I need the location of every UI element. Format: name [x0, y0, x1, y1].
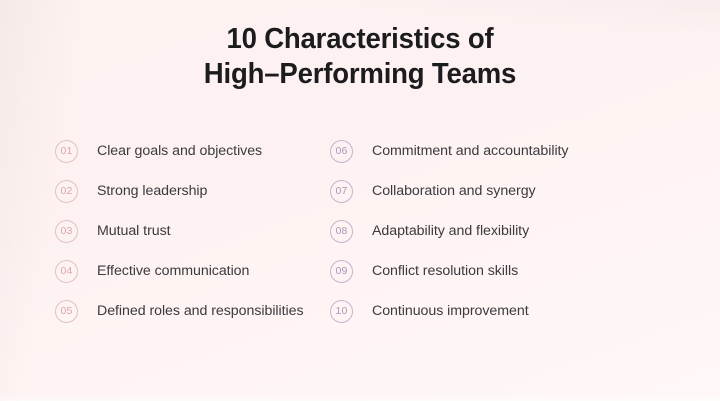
badge-number: 06	[336, 146, 348, 157]
list-item-label: Mutual trust	[97, 222, 171, 240]
number-badge-icon: 07	[330, 180, 353, 203]
badge-number: 09	[336, 266, 348, 277]
list-item: 04 Effective communication	[55, 258, 325, 284]
characteristics-column-left: 01 Clear goals and objectives 02 Strong …	[0, 138, 325, 338]
list-item-label: Clear goals and objectives	[97, 142, 262, 160]
badge-number: 01	[61, 146, 73, 157]
number-badge-icon: 05	[55, 300, 78, 323]
number-badge-icon: 03	[55, 220, 78, 243]
characteristics-column-right: 06 Commitment and accountability 07 Coll…	[325, 138, 665, 338]
list-item: 08 Adaptability and flexibility	[330, 218, 665, 244]
list-item-label: Commitment and accountability	[372, 142, 568, 160]
badge-number: 02	[61, 186, 73, 197]
badge-number: 03	[61, 226, 73, 237]
list-item-label: Strong leadership	[97, 182, 207, 200]
list-item: 07 Collaboration and synergy	[330, 178, 665, 204]
badge-number: 10	[336, 306, 348, 317]
infographic-poster: 10 Characteristics of High–Performing Te…	[0, 0, 720, 401]
number-badge-icon: 09	[330, 260, 353, 283]
page-title: 10 Characteristics of High–Performing Te…	[0, 22, 720, 92]
list-item-label: Conflict resolution skills	[372, 262, 518, 280]
number-badge-icon: 10	[330, 300, 353, 323]
list-item: 01 Clear goals and objectives	[55, 138, 325, 164]
list-item-label: Collaboration and synergy	[372, 182, 536, 200]
number-badge-icon: 02	[55, 180, 78, 203]
title-line-2: High–Performing Teams	[18, 57, 702, 92]
list-item-label: Adaptability and flexibility	[372, 222, 529, 240]
list-item-label: Defined roles and responsibilities	[97, 302, 304, 320]
number-badge-icon: 06	[330, 140, 353, 163]
badge-number: 08	[336, 226, 348, 237]
list-item: 06 Commitment and accountability	[330, 138, 665, 164]
list-item-label: Continuous improvement	[372, 302, 529, 320]
title-line-1: 10 Characteristics of	[18, 22, 702, 57]
characteristics-columns: 01 Clear goals and objectives 02 Strong …	[0, 138, 720, 338]
number-badge-icon: 01	[55, 140, 78, 163]
list-item: 02 Strong leadership	[55, 178, 325, 204]
badge-number: 07	[336, 186, 348, 197]
list-item: 10 Continuous improvement	[330, 298, 665, 324]
number-badge-icon: 04	[55, 260, 78, 283]
badge-number: 04	[61, 266, 73, 277]
list-item: 03 Mutual trust	[55, 218, 325, 244]
list-item-label: Effective communication	[97, 262, 249, 280]
list-item: 09 Conflict resolution skills	[330, 258, 665, 284]
list-item: 05 Defined roles and responsibilities	[55, 298, 325, 324]
badge-number: 05	[61, 306, 73, 317]
number-badge-icon: 08	[330, 220, 353, 243]
